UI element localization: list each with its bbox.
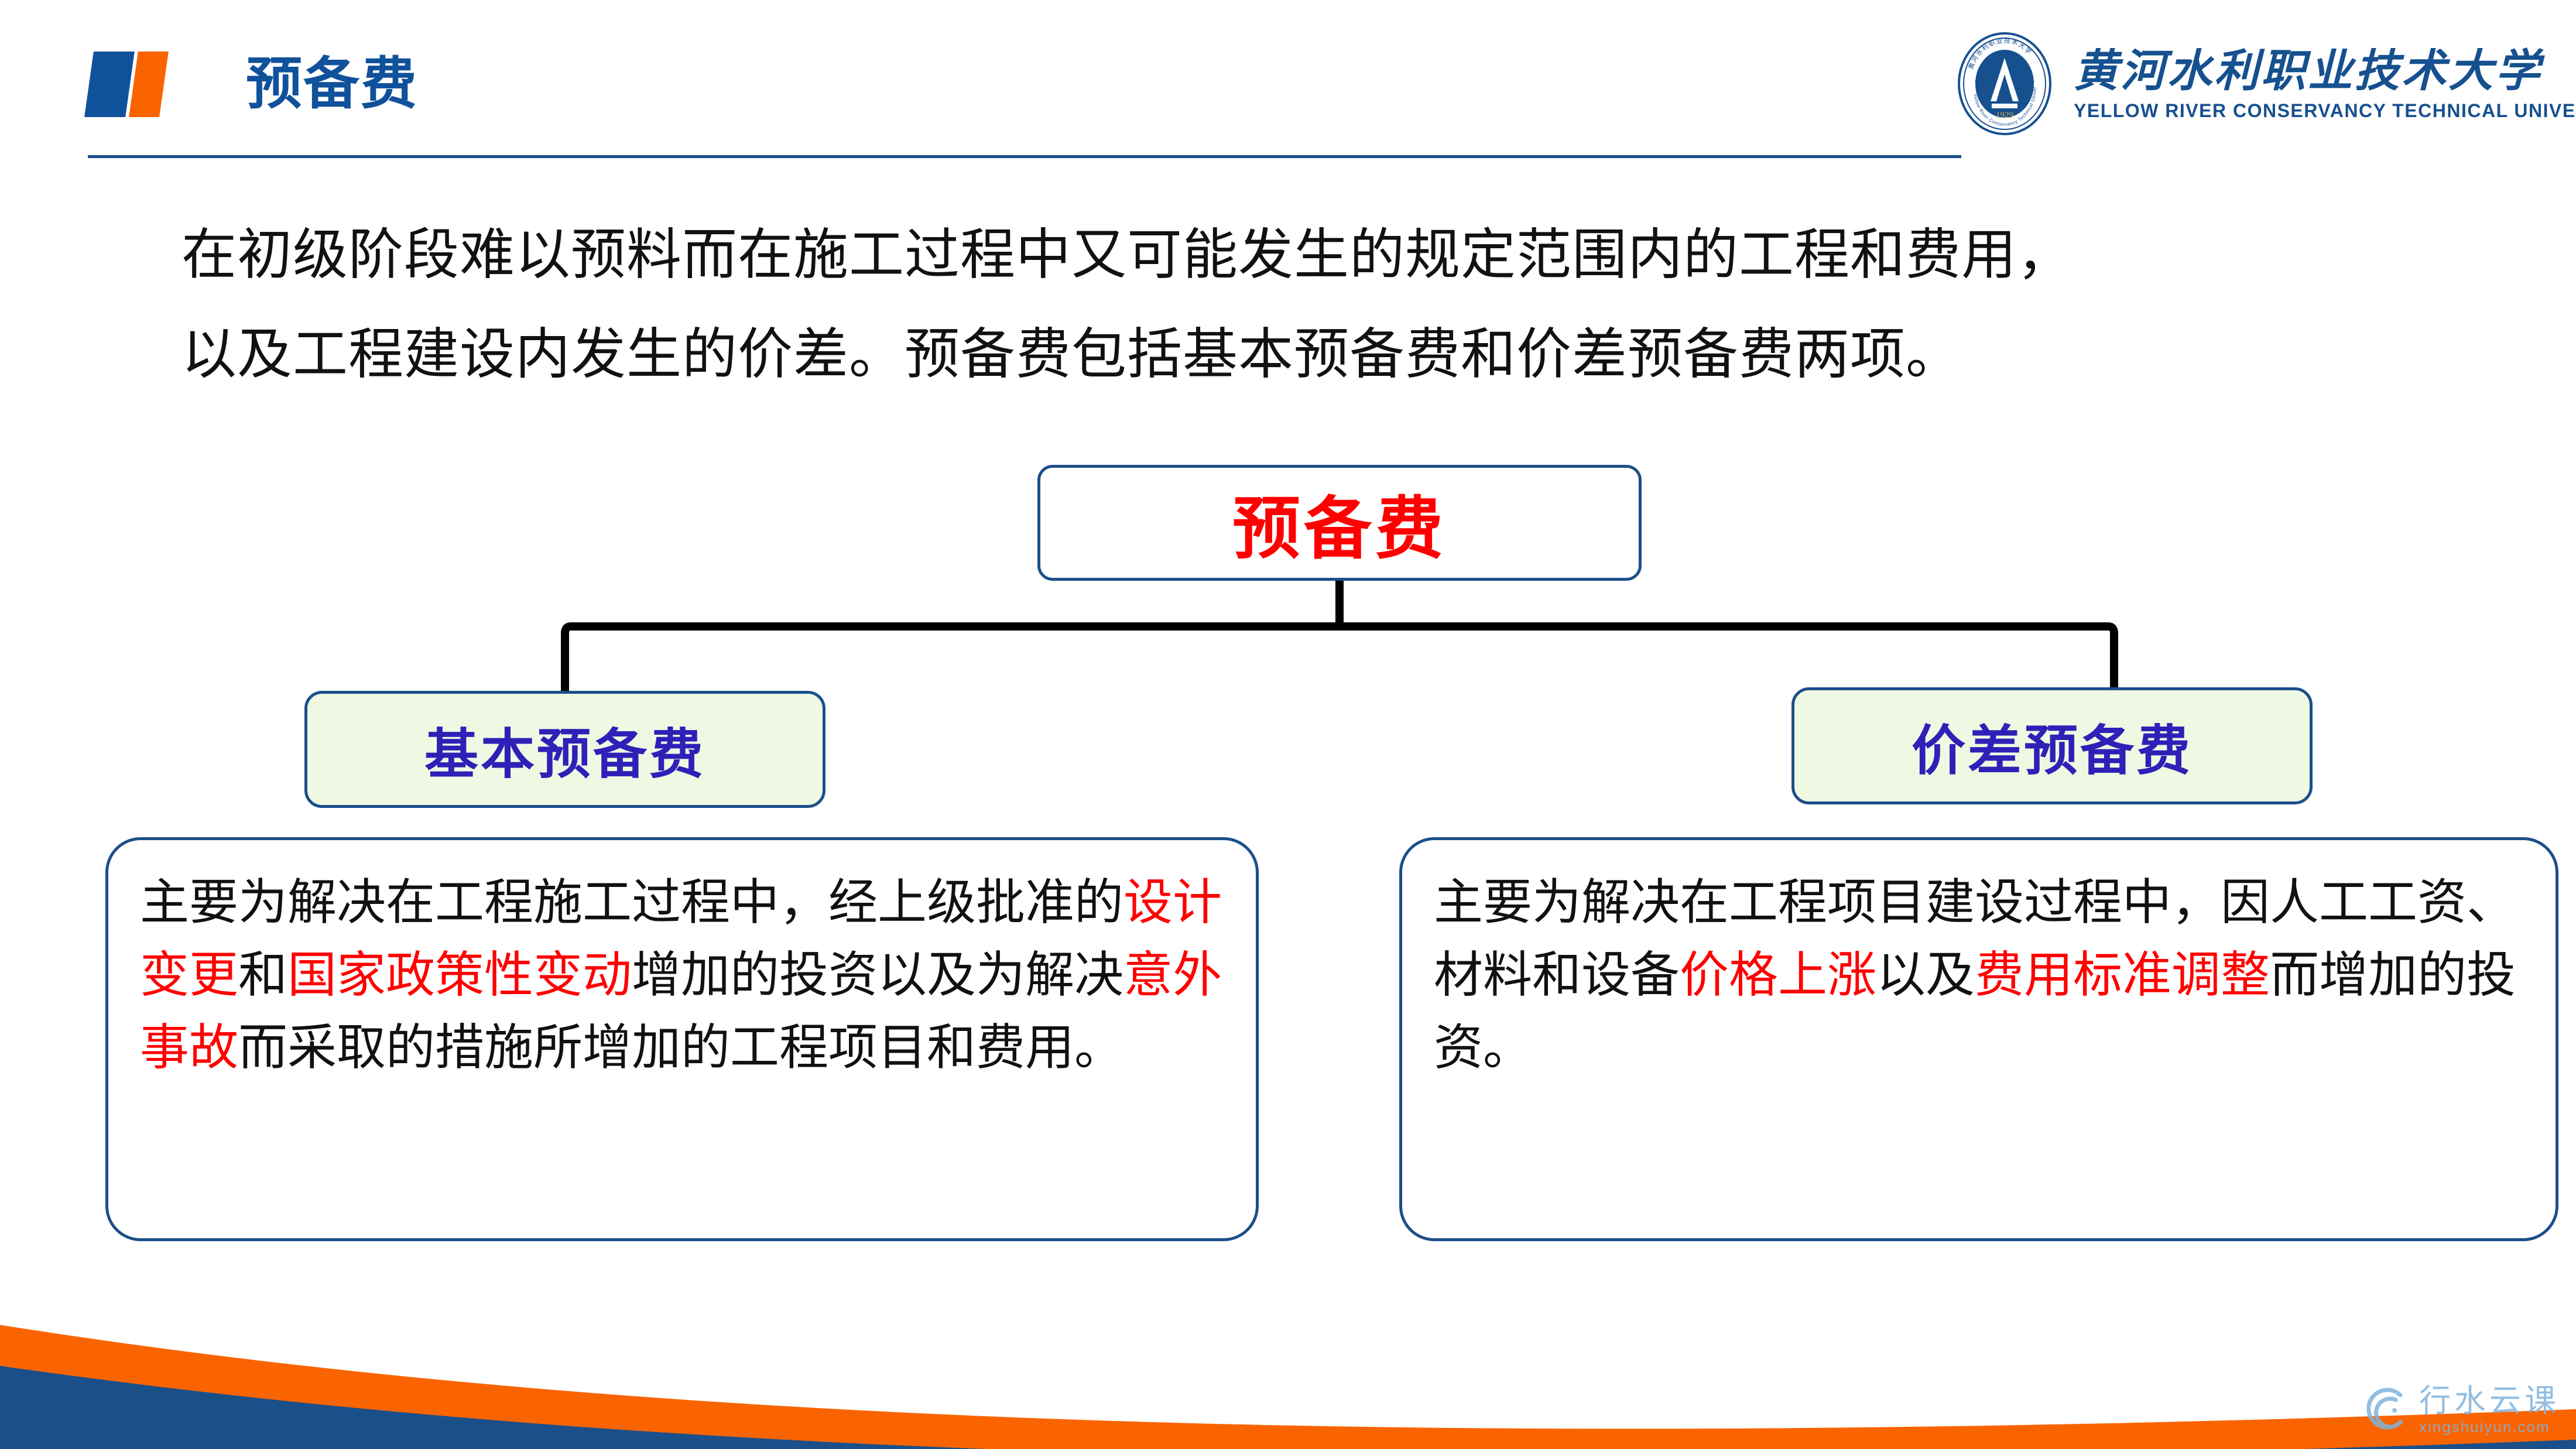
university-emblem-icon: 1929 黄河水利职业技术大学 Yellow River Conservancy… [1955, 31, 2054, 136]
footer-waves [0, 1256, 2576, 1449]
body-text-segment: 而采取的措施所增加的工程项目和费用。 [238, 1020, 1123, 1075]
highlighted-term: 国家政策性变动 [287, 947, 632, 1002]
highlighted-term: 价格上涨 [1680, 947, 1876, 1002]
description-text-basic: 主要为解决在工程施工过程中，经上级批准的设计变更和国家政策性变动增加的投资以及为… [140, 866, 1224, 1084]
diagram-node-root: 预备费 [1037, 465, 1642, 581]
description-box-price: 主要为解决在工程项目建设过程中，因人工工资、材料和设备价格上涨以及费用标准调整而… [1399, 837, 2558, 1241]
university-logo-text: 黄河水利职业技术大学 YELLOW RIVER CONSERVANCY TECH… [2074, 45, 2576, 122]
watermark: 行水云课 xingshuiyun.com [2358, 1383, 2560, 1436]
diagram-node-price: 价差预备费 [1791, 687, 2313, 804]
header-divider [88, 155, 1961, 158]
intro-line-2: 以及工程建设内发生的价差。预备费包括基本预备费和价差预备费两项。 [181, 304, 2395, 404]
body-text-segment: 增加的投资以及为解决 [632, 947, 1123, 1002]
intro-line-1: 在初级阶段难以预料而在施工过程中又可能发生的规定范围内的工程和费用， [181, 205, 2395, 304]
watermark-name-cn: 行水云课 [2419, 1384, 2560, 1418]
watermark-text: 行水云课 xingshuiyun.com [2419, 1384, 2560, 1436]
description-box-basic: 主要为解决在工程施工过程中，经上级批准的设计变更和国家政策性变动增加的投资以及为… [105, 837, 1259, 1241]
page-title: 预备费 [246, 52, 418, 117]
description-text-price: 主要为解决在工程项目建设过程中，因人工工资、材料和设备价格上涨以及费用标准调整而… [1434, 866, 2524, 1084]
svg-text:1929: 1929 [1996, 111, 2013, 120]
highlighted-term: 费用标准调整 [1975, 947, 2270, 1002]
diagram-node-root-label: 预备费 [1232, 474, 1447, 572]
accent-bar-blue [84, 52, 135, 117]
university-logo: 1929 黄河水利职业技术大学 Yellow River Conservancy… [1955, 28, 2553, 139]
body-text-segment: 主要为解决在工程施工过程中，经上级批准的 [140, 875, 1123, 930]
body-text-segment: 和 [238, 947, 287, 1002]
diagram-node-basic-label: 基本预备费 [424, 711, 705, 789]
header-accent-bars [89, 52, 171, 117]
intro-paragraph: 在初级阶段难以预料而在施工过程中又可能发生的规定范围内的工程和费用， 以及工程建… [181, 205, 2395, 404]
diagram-node-basic: 基本预备费 [304, 691, 825, 808]
accent-bar-orange [129, 52, 169, 117]
watermark-swirl-icon [2358, 1383, 2411, 1436]
watermark-name-en: xingshuiyun.com [2419, 1418, 2550, 1436]
slide-canvas: 预备费 1929 黄河水利职业技术大学 Yellow River Conserv… [0, 0, 2576, 1449]
university-name-en: YELLOW RIVER CONSERVANCY TECHNICAL UNIVE… [2074, 99, 2576, 122]
reserve-fund-diagram: 预备费 基本预备费 价差预备费 主要为解决在工程施工过程中，经上级批准的设计变更… [0, 457, 2576, 1276]
university-name-cn: 黄河水利职业技术大学 [2074, 45, 2576, 98]
diagram-node-price-label: 价差预备费 [1912, 707, 2193, 785]
body-text-segment: 以及 [1876, 947, 1975, 1002]
